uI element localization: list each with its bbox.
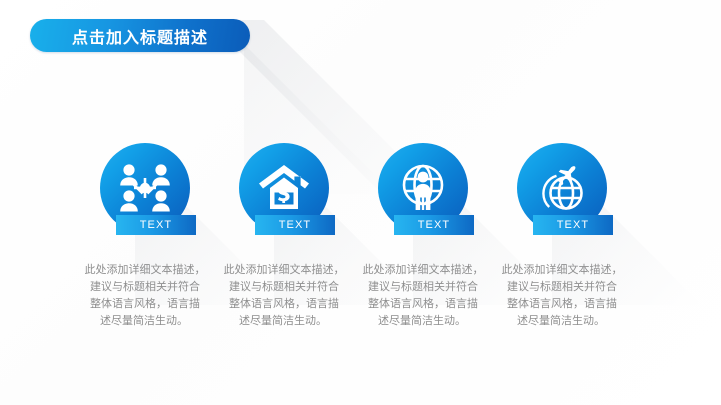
desc-line: 此处添加详细文本描述， (361, 261, 485, 278)
title-banner[interactable]: 点击加入标题描述 (30, 19, 250, 52)
badge-3[interactable]: TEXT (394, 215, 474, 235)
slide-canvas: 点击加入标题描述 (0, 0, 721, 405)
desc-line: 建议与标题相关并符合 (361, 278, 485, 295)
feature-description-1: 此处添加详细文本描述， 建议与标题相关并符合 整体语言风格，语言描 述尽量简洁生… (83, 261, 207, 329)
desc-line: 建议与标题相关并符合 (222, 278, 346, 295)
desc-line: 整体语言风格，语言描 (500, 295, 624, 312)
people-network-icon (119, 163, 171, 213)
badge-2[interactable]: TEXT (255, 215, 335, 235)
desc-line: 述尽量简洁生动。 (83, 312, 207, 329)
feature-description-3: 此处添加详细文本描述， 建议与标题相关并符合 整体语言风格，语言描 述尽量简洁生… (361, 261, 485, 329)
desc-line: 此处添加详细文本描述， (500, 261, 624, 278)
globe-person-icon (397, 163, 449, 213)
badge-4[interactable]: TEXT (533, 215, 613, 235)
desc-line: 述尽量简洁生动。 (500, 312, 624, 329)
icon-circle-wrap-4[interactable]: TEXT (517, 143, 607, 233)
badge-label-4: TEXT (557, 219, 590, 231)
badge-1[interactable]: TEXT (116, 215, 196, 235)
feature-item-3[interactable]: TEXT 此处添加详细文本描述， 建议与标题相关并符合 整体语言风格，语言描 述… (353, 143, 493, 329)
page-title: 点击加入标题描述 (72, 24, 208, 48)
desc-line: 建议与标题相关并符合 (500, 278, 624, 295)
desc-line: 建议与标题相关并符合 (83, 278, 207, 295)
desc-line: 此处添加详细文本描述， (83, 261, 207, 278)
desc-line: 整体语言风格，语言描 (361, 295, 485, 312)
feature-description-2: 此处添加详细文本描述， 建议与标题相关并符合 整体语言风格，语言描 述尽量简洁生… (222, 261, 346, 329)
badge-label-1: TEXT (140, 219, 173, 231)
icon-circle-wrap-1[interactable]: TEXT (100, 143, 190, 233)
desc-line: 此处添加详细文本描述， (222, 261, 346, 278)
desc-line: 述尽量简洁生动。 (361, 312, 485, 329)
feature-item-4[interactable]: TEXT 此处添加详细文本描述， 建议与标题相关并符合 整体语言风格，语言描 述… (492, 143, 632, 329)
icon-circle-wrap-2[interactable]: TEXT (239, 143, 329, 233)
desc-line: 整体语言风格，语言描 (83, 295, 207, 312)
feature-items-row: TEXT 此处添加详细文本描述， 建议与标题相关并符合 整体语言风格，语言描 述… (0, 143, 721, 353)
desc-line: 述尽量简洁生动。 (222, 312, 346, 329)
feature-item-2[interactable]: TEXT 此处添加详细文本描述， 建议与标题相关并符合 整体语言风格，语言描 述… (214, 143, 354, 329)
house-dollar-icon (258, 164, 310, 212)
globe-airplane-icon (536, 163, 588, 213)
badge-label-2: TEXT (279, 219, 312, 231)
badge-label-3: TEXT (418, 219, 451, 231)
feature-item-1[interactable]: TEXT 此处添加详细文本描述， 建议与标题相关并符合 整体语言风格，语言描 述… (75, 143, 215, 329)
feature-description-4: 此处添加详细文本描述， 建议与标题相关并符合 整体语言风格，语言描 述尽量简洁生… (500, 261, 624, 329)
desc-line: 整体语言风格，语言描 (222, 295, 346, 312)
icon-circle-wrap-3[interactable]: TEXT (378, 143, 468, 233)
